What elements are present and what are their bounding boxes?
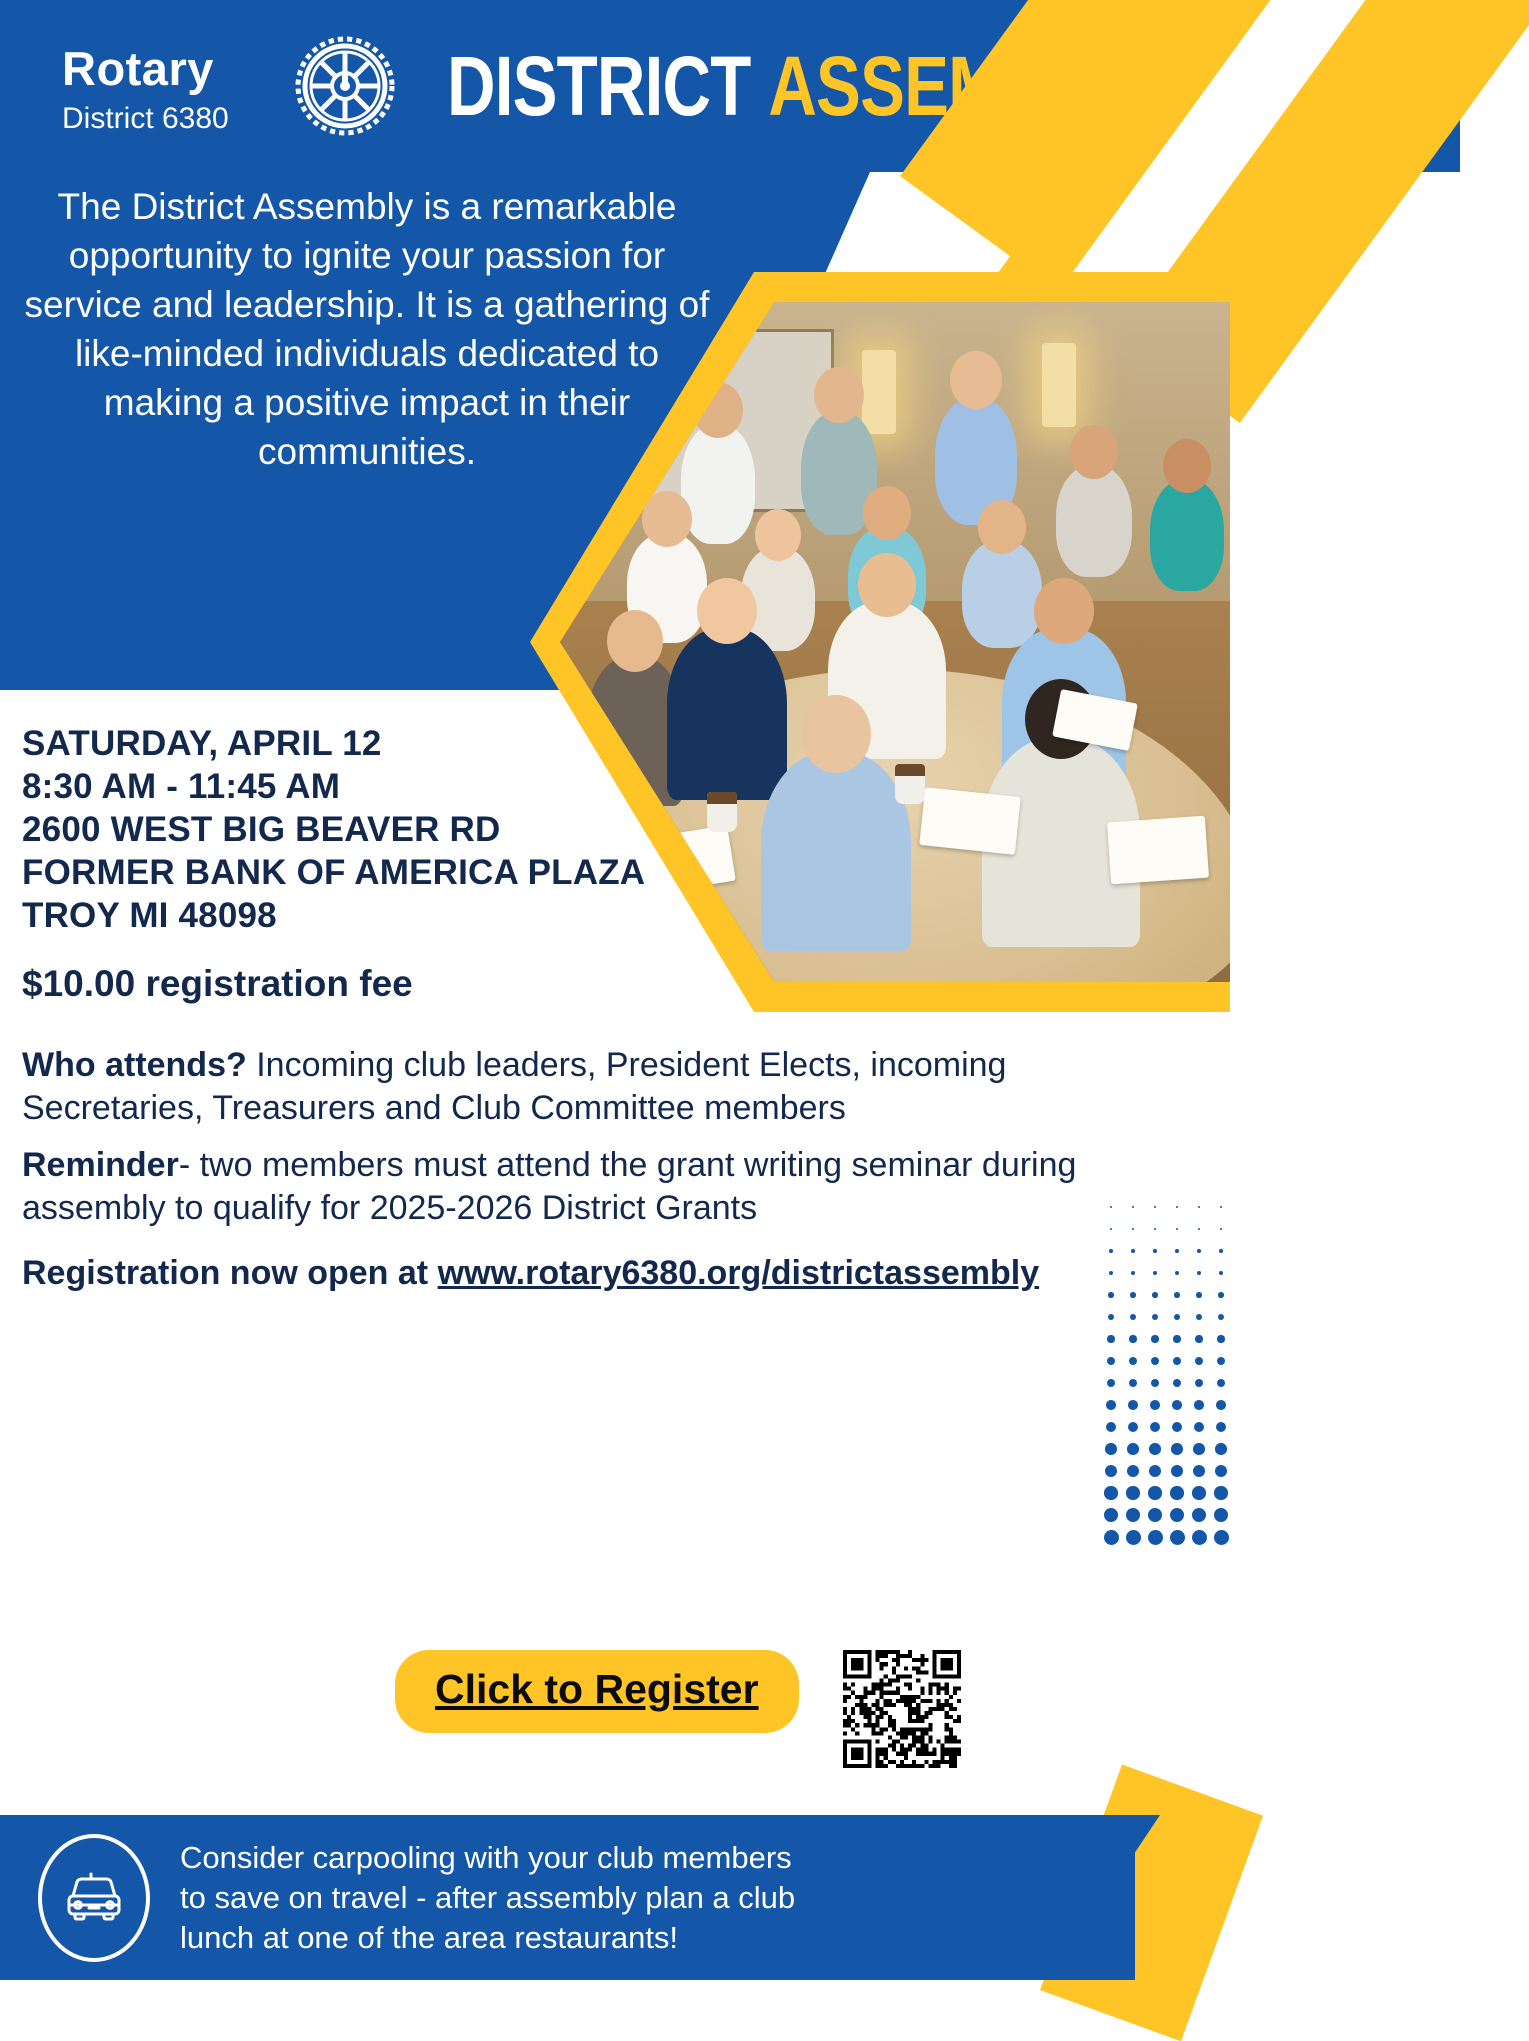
dot bbox=[1105, 1443, 1117, 1455]
dot bbox=[254, 670, 264, 680]
rotary-wheel-icon bbox=[295, 36, 395, 136]
dot bbox=[372, 581, 378, 587]
dot bbox=[1195, 1335, 1202, 1342]
dot bbox=[1219, 1271, 1224, 1276]
dot-row bbox=[1100, 1394, 1232, 1416]
dot bbox=[1104, 1508, 1118, 1522]
dot-row bbox=[1100, 1438, 1232, 1460]
dot bbox=[43, 666, 61, 684]
who-attends-paragraph: Who attends? Incoming club leaders, Pres… bbox=[22, 1044, 1152, 1130]
dot bbox=[1192, 1508, 1206, 1522]
dot bbox=[90, 598, 106, 614]
dot bbox=[325, 580, 332, 587]
dot-row bbox=[1100, 1526, 1232, 1548]
dot bbox=[67, 621, 84, 638]
dot bbox=[231, 601, 242, 612]
dot bbox=[372, 627, 378, 633]
dot bbox=[1154, 1228, 1157, 1231]
dot bbox=[90, 667, 106, 683]
dot bbox=[465, 674, 467, 676]
dot bbox=[67, 598, 84, 615]
dot bbox=[1108, 1314, 1114, 1320]
rotary-wordmark: Rotary bbox=[62, 45, 301, 92]
dot bbox=[348, 649, 354, 655]
dot bbox=[20, 597, 39, 616]
dot bbox=[161, 577, 175, 591]
dot bbox=[114, 645, 129, 660]
dot bbox=[184, 646, 197, 659]
dot bbox=[1106, 1400, 1116, 1410]
dot bbox=[1192, 1530, 1207, 1545]
dot bbox=[254, 601, 264, 611]
dot bbox=[489, 606, 491, 608]
dot bbox=[20, 666, 39, 685]
qr-code-registration[interactable] bbox=[843, 1650, 961, 1768]
dot bbox=[1126, 1486, 1139, 1499]
dot bbox=[1126, 1530, 1141, 1545]
dot bbox=[67, 667, 84, 684]
dot-row bbox=[1100, 1460, 1232, 1482]
dot bbox=[231, 670, 242, 681]
dot bbox=[442, 674, 445, 677]
dot bbox=[1218, 1292, 1223, 1297]
dot bbox=[1107, 1379, 1116, 1388]
title-assembly: ASSEMBLY bbox=[769, 39, 1130, 133]
dot bbox=[1153, 1271, 1158, 1276]
who-attends-label: Who attends? bbox=[22, 1046, 247, 1084]
dot bbox=[1192, 1486, 1205, 1499]
dot bbox=[1176, 1228, 1179, 1231]
dot-row bbox=[18, 595, 501, 618]
dot bbox=[301, 602, 309, 610]
dot bbox=[1150, 1422, 1161, 1433]
intro-paragraph: The District Assembly is a remarkable op… bbox=[22, 182, 712, 476]
dot bbox=[20, 574, 39, 593]
dot bbox=[20, 643, 39, 662]
dot bbox=[43, 574, 61, 592]
dot bbox=[489, 652, 491, 654]
dot bbox=[1215, 1443, 1227, 1455]
dot bbox=[465, 628, 467, 630]
dot bbox=[1193, 1465, 1205, 1477]
dot bbox=[278, 602, 287, 611]
dot bbox=[1215, 1465, 1227, 1477]
dot bbox=[1193, 1443, 1205, 1455]
dot bbox=[419, 674, 423, 678]
dot bbox=[114, 599, 129, 614]
event-street: 2600 WEST BIG BEAVER RD bbox=[22, 808, 742, 851]
dot bbox=[90, 575, 106, 591]
dot bbox=[1126, 1508, 1140, 1522]
dot bbox=[231, 578, 242, 589]
dot bbox=[395, 604, 400, 609]
dot bbox=[137, 576, 152, 591]
dot bbox=[1170, 1486, 1183, 1499]
dot bbox=[395, 627, 400, 632]
dot bbox=[301, 648, 309, 656]
dot bbox=[1171, 1465, 1183, 1477]
dot bbox=[301, 579, 309, 587]
halftone-dot-grid-left bbox=[18, 572, 501, 687]
dot bbox=[1197, 1271, 1202, 1276]
carpool-line-1: Consider carpooling with your club membe… bbox=[180, 1838, 795, 1878]
dot bbox=[1174, 1292, 1179, 1297]
dot bbox=[184, 623, 197, 636]
dot bbox=[1170, 1508, 1184, 1522]
dot bbox=[1148, 1530, 1163, 1545]
dot bbox=[67, 644, 84, 661]
flyer-canvas: Rotary District 6380 bbox=[0, 0, 1529, 1980]
dot bbox=[395, 673, 400, 678]
dot bbox=[1129, 1357, 1137, 1365]
dot bbox=[1148, 1508, 1162, 1522]
dot bbox=[419, 582, 423, 586]
dot bbox=[137, 645, 152, 660]
dot bbox=[1172, 1422, 1183, 1433]
dot bbox=[325, 672, 332, 679]
dot bbox=[1149, 1465, 1161, 1477]
dot bbox=[1127, 1443, 1139, 1455]
dot bbox=[1194, 1400, 1204, 1410]
dot-row bbox=[18, 664, 501, 687]
dot bbox=[231, 647, 242, 658]
dot bbox=[1130, 1314, 1136, 1320]
dot-row bbox=[1100, 1416, 1232, 1438]
dot bbox=[161, 623, 175, 637]
dot bbox=[208, 578, 220, 590]
dot-row bbox=[18, 641, 501, 664]
dot bbox=[1129, 1379, 1138, 1388]
dot bbox=[1175, 1249, 1179, 1253]
dot bbox=[419, 628, 423, 632]
reminder-text: - two members must attend the grant writ… bbox=[22, 1146, 1076, 1227]
dot bbox=[442, 605, 445, 608]
dot bbox=[1104, 1486, 1117, 1499]
dot bbox=[1214, 1508, 1228, 1522]
dot bbox=[348, 626, 354, 632]
dot bbox=[419, 605, 423, 609]
dot bbox=[301, 671, 309, 679]
dot bbox=[1173, 1335, 1180, 1342]
footer-content: Consider carpooling with your club membe… bbox=[0, 1815, 1135, 1980]
registration-line: Registration now open at www.rotary6380.… bbox=[22, 1252, 1152, 1295]
dot-row bbox=[1100, 1350, 1232, 1372]
dot bbox=[1170, 1530, 1185, 1545]
dot-row bbox=[1100, 1328, 1232, 1350]
dot bbox=[1196, 1292, 1201, 1297]
dot bbox=[184, 577, 197, 590]
cta-row: Click to Register bbox=[395, 1650, 961, 1768]
dot bbox=[1196, 1314, 1202, 1320]
dot bbox=[1149, 1443, 1161, 1455]
dot bbox=[465, 605, 467, 607]
dot bbox=[395, 581, 400, 586]
page-title: DISTRICT ASSEMBLY bbox=[447, 44, 1129, 128]
dot bbox=[137, 668, 152, 683]
dot bbox=[1176, 1206, 1178, 1208]
dot bbox=[278, 648, 287, 657]
event-venue: FORMER BANK OF AMERICA PLAZA bbox=[22, 851, 742, 894]
dot bbox=[1216, 1422, 1227, 1433]
dot bbox=[1218, 1314, 1224, 1320]
dot bbox=[1152, 1314, 1158, 1320]
dot bbox=[1151, 1335, 1158, 1342]
dot bbox=[1194, 1422, 1205, 1433]
dot bbox=[1128, 1422, 1139, 1433]
carpool-message: Consider carpooling with your club membe… bbox=[180, 1838, 795, 1958]
dot bbox=[1128, 1400, 1138, 1410]
dot bbox=[372, 650, 378, 656]
dot bbox=[254, 578, 264, 588]
dot bbox=[1172, 1400, 1182, 1410]
dot bbox=[1214, 1486, 1227, 1499]
dot bbox=[442, 628, 445, 631]
dot bbox=[489, 675, 491, 677]
dot bbox=[372, 604, 378, 610]
dot bbox=[1217, 1335, 1224, 1342]
event-details: SATURDAY, APRIL 12 8:30 AM - 11:45 AM 26… bbox=[22, 722, 742, 1005]
carpool-line-3: lunch at one of the area restaurants! bbox=[180, 1918, 795, 1958]
dot-row bbox=[18, 572, 501, 595]
dot-row bbox=[1100, 1482, 1232, 1504]
dot bbox=[254, 624, 264, 634]
dot bbox=[1151, 1357, 1159, 1365]
dot bbox=[1129, 1335, 1136, 1342]
dot-row bbox=[1100, 1372, 1232, 1394]
carpool-line-2: to save on travel - after assembly plan … bbox=[180, 1878, 795, 1918]
dot bbox=[161, 669, 175, 683]
dot bbox=[1195, 1357, 1203, 1365]
dot bbox=[1197, 1249, 1201, 1253]
dot bbox=[1150, 1400, 1160, 1410]
dot bbox=[1104, 1530, 1119, 1545]
dot bbox=[348, 603, 354, 609]
dot bbox=[184, 600, 197, 613]
dot bbox=[208, 624, 220, 636]
dot bbox=[114, 668, 129, 683]
district-label: District 6380 bbox=[62, 104, 301, 134]
dot bbox=[1127, 1465, 1139, 1477]
body-copy: Who attends? Incoming club leaders, Pres… bbox=[22, 1030, 1152, 1295]
dot bbox=[1148, 1486, 1161, 1499]
title-district: DISTRICT bbox=[447, 39, 750, 133]
dot bbox=[1217, 1379, 1226, 1388]
dot bbox=[489, 629, 491, 631]
reminder-label: Reminder bbox=[22, 1146, 179, 1184]
dot bbox=[1216, 1400, 1226, 1410]
dot bbox=[301, 625, 309, 633]
dot bbox=[1173, 1357, 1181, 1365]
dot bbox=[325, 603, 332, 610]
dot bbox=[231, 624, 242, 635]
dot bbox=[161, 600, 175, 614]
dot bbox=[325, 649, 332, 656]
dot bbox=[465, 651, 467, 653]
dot bbox=[442, 651, 445, 654]
dot bbox=[90, 621, 106, 637]
dot-row bbox=[1100, 1306, 1232, 1328]
dot-row bbox=[1100, 1504, 1232, 1526]
dot bbox=[1152, 1292, 1157, 1297]
event-city: TROY MI 48098 bbox=[22, 894, 742, 937]
dot bbox=[43, 620, 61, 638]
dot bbox=[43, 597, 61, 615]
click-to-register-button[interactable]: Click to Register bbox=[395, 1650, 799, 1733]
dot bbox=[43, 643, 61, 661]
dot bbox=[254, 647, 264, 657]
dot bbox=[465, 582, 467, 584]
flyer-header: Rotary District 6380 bbox=[0, 0, 1300, 172]
dot bbox=[90, 644, 106, 660]
dot bbox=[114, 622, 129, 637]
rotary-logo-lockup: Rotary District 6380 bbox=[0, 39, 301, 134]
dot bbox=[1173, 1379, 1182, 1388]
dot bbox=[184, 669, 197, 682]
dot bbox=[1217, 1357, 1225, 1365]
dot bbox=[1107, 1357, 1115, 1365]
registration-url[interactable]: www.rotary6380.org/districtassembly bbox=[438, 1254, 1040, 1292]
car-icon bbox=[63, 1872, 125, 1924]
dot bbox=[20, 620, 39, 639]
dot bbox=[1195, 1379, 1204, 1388]
event-date: SATURDAY, APRIL 12 bbox=[22, 722, 742, 765]
dot bbox=[114, 576, 129, 591]
dot bbox=[208, 670, 220, 682]
dot bbox=[1175, 1271, 1180, 1276]
dot bbox=[1153, 1249, 1157, 1253]
dot bbox=[1198, 1228, 1201, 1231]
registration-prefix: Registration now open at bbox=[22, 1254, 438, 1292]
dot bbox=[1154, 1206, 1156, 1208]
registration-fee: $10.00 registration fee bbox=[22, 963, 742, 1005]
dot bbox=[325, 626, 332, 633]
dot bbox=[1220, 1228, 1223, 1231]
dot-row bbox=[18, 618, 501, 641]
dot bbox=[137, 622, 152, 637]
dot bbox=[348, 672, 354, 678]
reminder-paragraph: Reminder- two members must attend the gr… bbox=[22, 1144, 1152, 1230]
dot bbox=[278, 579, 287, 588]
event-time: 8:30 AM - 11:45 AM bbox=[22, 765, 742, 808]
dot bbox=[395, 650, 400, 655]
dot bbox=[161, 646, 175, 660]
dot bbox=[1106, 1422, 1117, 1433]
dot bbox=[1214, 1530, 1229, 1545]
dot bbox=[348, 580, 354, 586]
dot bbox=[442, 582, 445, 585]
dot bbox=[67, 575, 84, 592]
dot bbox=[1171, 1443, 1183, 1455]
dot bbox=[372, 673, 378, 679]
dot bbox=[1219, 1249, 1223, 1253]
dot bbox=[1220, 1206, 1222, 1208]
dot bbox=[1198, 1206, 1200, 1208]
dot bbox=[1174, 1314, 1180, 1320]
dot bbox=[278, 671, 287, 680]
dot bbox=[419, 651, 423, 655]
dot bbox=[1151, 1379, 1160, 1388]
dot bbox=[208, 601, 220, 613]
dot bbox=[1107, 1335, 1114, 1342]
dot bbox=[137, 599, 152, 614]
dot bbox=[278, 625, 287, 634]
dot bbox=[208, 647, 220, 659]
car-icon-badge bbox=[38, 1834, 150, 1962]
dot bbox=[489, 583, 491, 585]
dot bbox=[1105, 1465, 1117, 1477]
